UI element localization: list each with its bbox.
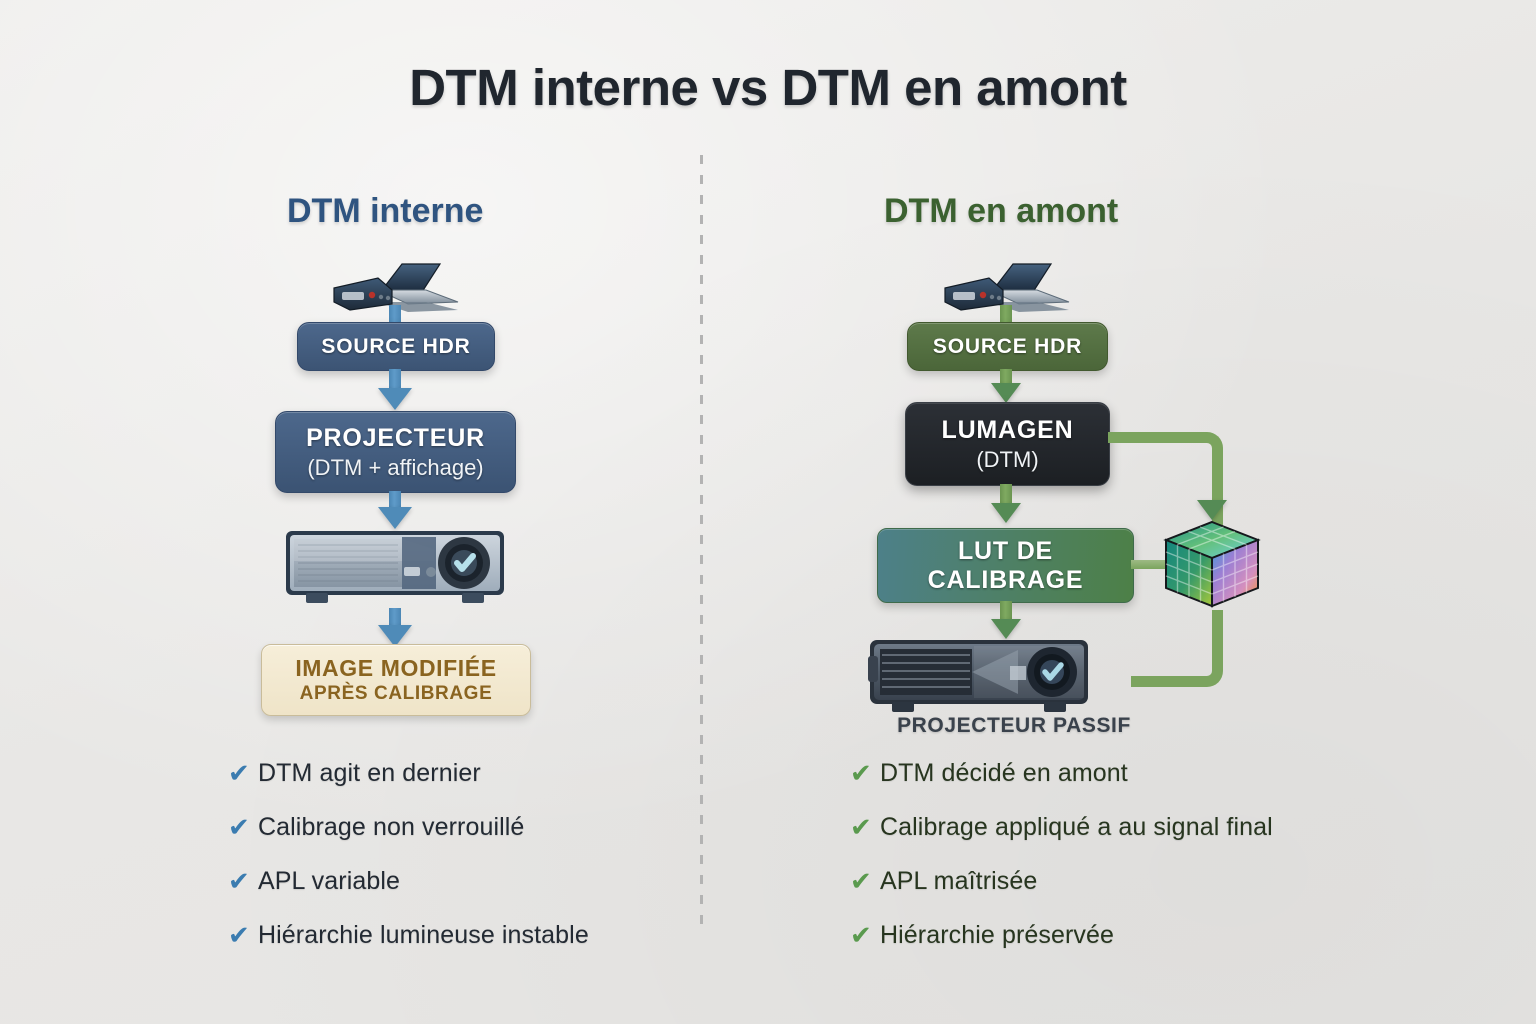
list-item: ✔ APL variable	[228, 860, 589, 902]
result-line-1: IMAGE MODIFIÉE	[295, 655, 496, 682]
box-sublabel: (DTM + affichage)	[307, 455, 483, 481]
check-icon: ✔	[228, 814, 258, 840]
list-item-label: Hiérarchie lumineuse instable	[258, 921, 589, 950]
right-source-hdr-box: SOURCE HDR	[907, 322, 1108, 371]
box-label: PROJECTEUR	[306, 424, 485, 453]
left-result-box: IMAGE MODIFIÉE APRÈS CALIBRAGE	[261, 644, 531, 716]
check-icon: ✔	[228, 760, 258, 786]
box-label: SOURCE HDR	[933, 335, 1082, 359]
projector-passive-label: PROJECTEUR PASSIF	[884, 714, 1144, 738]
left-checklist: ✔ DTM agit en dernier ✔ Calibrage non ve…	[228, 752, 589, 968]
left-source-hdr-box: SOURCE HDR	[297, 322, 495, 371]
list-item-label: APL variable	[258, 867, 400, 896]
box-label: SOURCE HDR	[321, 335, 470, 359]
arrow-left-2	[378, 388, 412, 410]
projector-icon	[868, 636, 1090, 718]
color-lut-cube-icon	[1162, 520, 1262, 610]
list-item: ✔ Calibrage non verrouillé	[228, 806, 589, 848]
list-item-label: Calibrage appliqué a au signal final	[880, 813, 1273, 842]
right-checklist: ✔ DTM décidé en amont ✔ Calibrage appliq…	[850, 752, 1273, 968]
page-title: DTM interne vs DTM en amont	[0, 58, 1536, 117]
list-item: ✔ Hiérarchie préservée	[850, 914, 1273, 956]
right-column-heading: DTM en amont	[884, 192, 1118, 231]
column-divider	[700, 155, 703, 935]
arrow-left-3	[378, 507, 412, 529]
list-item: ✔ DTM agit en dernier	[228, 752, 589, 794]
lut-calibrage-box: LUT DE CALIBRAGE	[877, 528, 1134, 603]
box-sublabel: (DTM)	[976, 447, 1038, 473]
left-column-heading: DTM interne	[287, 192, 483, 231]
check-icon: ✔	[228, 922, 258, 948]
arrow-right-3	[991, 503, 1021, 523]
box-label: LUMAGEN	[942, 416, 1074, 445]
left-projecteur-box: PROJECTEUR (DTM + affichage)	[275, 411, 516, 493]
box-label: LUT DE	[958, 537, 1053, 566]
list-item: ✔ APL maîtrisée	[850, 860, 1273, 902]
list-item-label: DTM agit en dernier	[258, 759, 481, 788]
list-item-label: Calibrage non verrouillé	[258, 813, 524, 842]
check-icon: ✔	[850, 814, 880, 840]
list-item-label: Hiérarchie préservée	[880, 921, 1114, 950]
arrow-right-2	[991, 383, 1021, 403]
list-item: ✔ Hiérarchie lumineuse instable	[228, 914, 589, 956]
check-icon: ✔	[228, 868, 258, 894]
list-item: ✔ DTM décidé en amont	[850, 752, 1273, 794]
projector-icon	[284, 527, 506, 609]
lumagen-box: LUMAGEN (DTM)	[905, 402, 1110, 486]
result-line-2: APRÈS CALIBRAGE	[300, 683, 493, 705]
list-item-label: DTM décidé en amont	[880, 759, 1128, 788]
diagram-canvas: DTM interne vs DTM en amont DTM interne	[0, 0, 1536, 1024]
check-icon: ✔	[850, 868, 880, 894]
check-icon: ✔	[850, 922, 880, 948]
list-item-label: APL maîtrisée	[880, 867, 1037, 896]
connector-cube-to-projector	[1131, 610, 1223, 687]
box-sublabel: CALIBRAGE	[928, 566, 1084, 595]
check-icon: ✔	[850, 760, 880, 786]
arrow-to-cube	[1197, 500, 1227, 520]
list-item: ✔ Calibrage appliqué a au signal final	[850, 806, 1273, 848]
